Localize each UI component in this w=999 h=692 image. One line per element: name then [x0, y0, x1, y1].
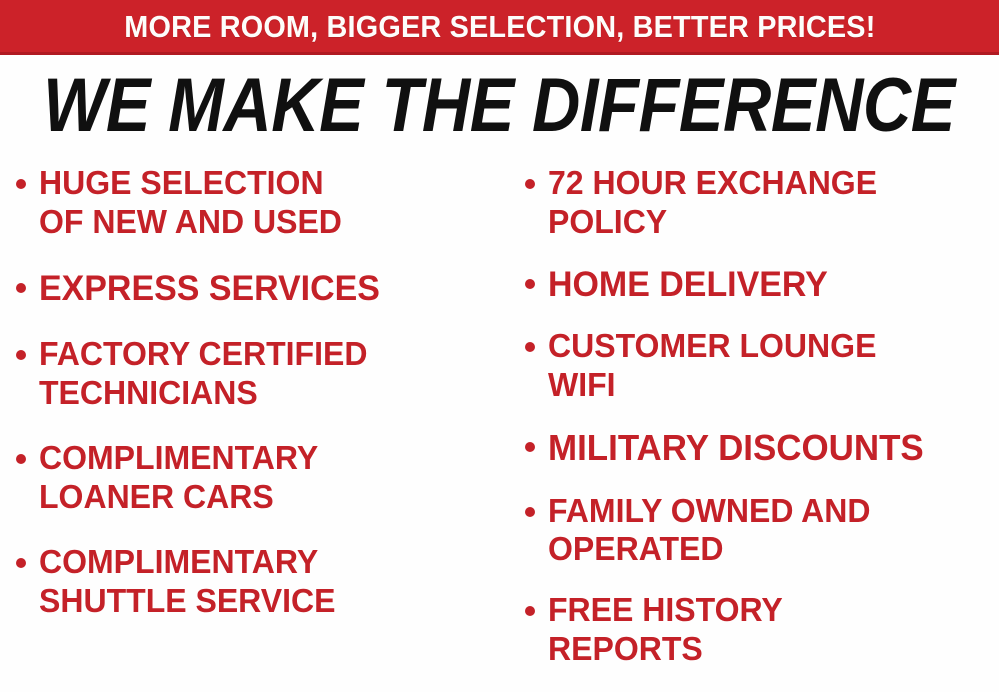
- list-item: EXPRESS SERVICES: [16, 268, 505, 309]
- benefits-columns: HUGE SELECTION OF NEW AND USED EXPRESS S…: [0, 158, 999, 692]
- list-item-label: COMPLIMENTARY SHUTTLE SERVICE: [39, 543, 335, 621]
- bullet-dot-icon: [525, 342, 535, 352]
- list-item: FACTORY CERTIFIED TECHNICIANS: [16, 335, 505, 413]
- list-item-line2: TECHNICIANS: [39, 374, 258, 411]
- list-item-label: FREE HISTORY REPORTS: [548, 591, 783, 669]
- bullet-dot-icon: [16, 558, 26, 568]
- list-item-line2: LOANER CARS: [39, 478, 274, 515]
- promo-banner-text: MORE ROOM, BIGGER SELECTION, BETTER PRIC…: [124, 11, 875, 42]
- list-item-line2: OF NEW AND USED: [39, 203, 342, 240]
- list-item-line1: COMPLIMENTARY: [39, 543, 318, 580]
- list-item-line2: SHUTTLE SERVICE: [39, 582, 335, 619]
- list-item-line1: MILITARY DISCOUNTS: [548, 427, 924, 468]
- list-item-line1: CUSTOMER LOUNGE: [548, 327, 876, 364]
- list-item: HUGE SELECTION OF NEW AND USED: [16, 164, 505, 242]
- list-item-line1: FAMILY OWNED AND: [548, 492, 870, 529]
- list-item: FREE HISTORY REPORTS: [525, 591, 999, 669]
- list-item-line1: EXPRESS SERVICES: [39, 269, 380, 308]
- list-item-label: HOME DELIVERY: [548, 264, 828, 305]
- list-item-line2: WIFI: [548, 366, 616, 403]
- list-item-line2: POLICY: [548, 203, 667, 240]
- bullet-dot-icon: [16, 179, 26, 189]
- list-item: CUSTOMER LOUNGE WIFI: [525, 327, 999, 405]
- advertisement-banner: MORE ROOM, BIGGER SELECTION, BETTER PRIC…: [0, 0, 999, 692]
- bullet-dot-icon: [16, 454, 26, 464]
- list-item: MILITARY DISCOUNTS: [525, 427, 999, 469]
- list-item: 72 HOUR EXCHANGE POLICY: [525, 164, 999, 242]
- list-item-line1: 72 HOUR EXCHANGE: [548, 164, 877, 201]
- bullet-dot-icon: [16, 350, 26, 360]
- list-item-line2: OPERATED: [548, 530, 723, 567]
- list-item-label: HUGE SELECTION OF NEW AND USED: [39, 164, 342, 242]
- top-promo-banner: MORE ROOM, BIGGER SELECTION, BETTER PRIC…: [0, 0, 999, 55]
- list-item: COMPLIMENTARY LOANER CARS: [16, 439, 505, 517]
- list-item-label: 72 HOUR EXCHANGE POLICY: [548, 164, 877, 242]
- list-item: COMPLIMENTARY SHUTTLE SERVICE: [16, 543, 505, 621]
- bullet-dot-icon: [525, 442, 535, 452]
- bullet-dot-icon: [525, 279, 535, 289]
- list-item-label: MILITARY DISCOUNTS: [548, 427, 924, 469]
- list-item: HOME DELIVERY: [525, 264, 999, 305]
- list-item-line2: REPORTS: [548, 630, 703, 667]
- headline-container: WE MAKE THE DIFFERENCE: [0, 62, 999, 150]
- list-item-label: EXPRESS SERVICES: [39, 268, 380, 309]
- benefits-column-left: HUGE SELECTION OF NEW AND USED EXPRESS S…: [0, 158, 505, 692]
- list-item-label: FAMILY OWNED AND OPERATED: [548, 492, 870, 570]
- list-item-label: FACTORY CERTIFIED TECHNICIANS: [39, 335, 367, 413]
- main-headline: WE MAKE THE DIFFERENCE: [44, 68, 956, 144]
- bullet-dot-icon: [525, 606, 535, 616]
- list-item-label: COMPLIMENTARY LOANER CARS: [39, 439, 318, 517]
- list-item-line1: FACTORY CERTIFIED: [39, 335, 367, 372]
- bullet-dot-icon: [16, 283, 26, 293]
- list-item: FAMILY OWNED AND OPERATED: [525, 492, 999, 570]
- bullet-dot-icon: [525, 179, 535, 189]
- benefits-column-right: 72 HOUR EXCHANGE POLICY HOME DELIVERY CU…: [505, 158, 999, 692]
- list-item-line1: FREE HISTORY: [548, 591, 783, 628]
- bullet-dot-icon: [525, 507, 535, 517]
- list-item-line1: COMPLIMENTARY: [39, 439, 318, 476]
- list-item-line1: HOME DELIVERY: [548, 265, 828, 304]
- list-item-line1: HUGE SELECTION: [39, 164, 324, 201]
- list-item-label: CUSTOMER LOUNGE WIFI: [548, 327, 876, 405]
